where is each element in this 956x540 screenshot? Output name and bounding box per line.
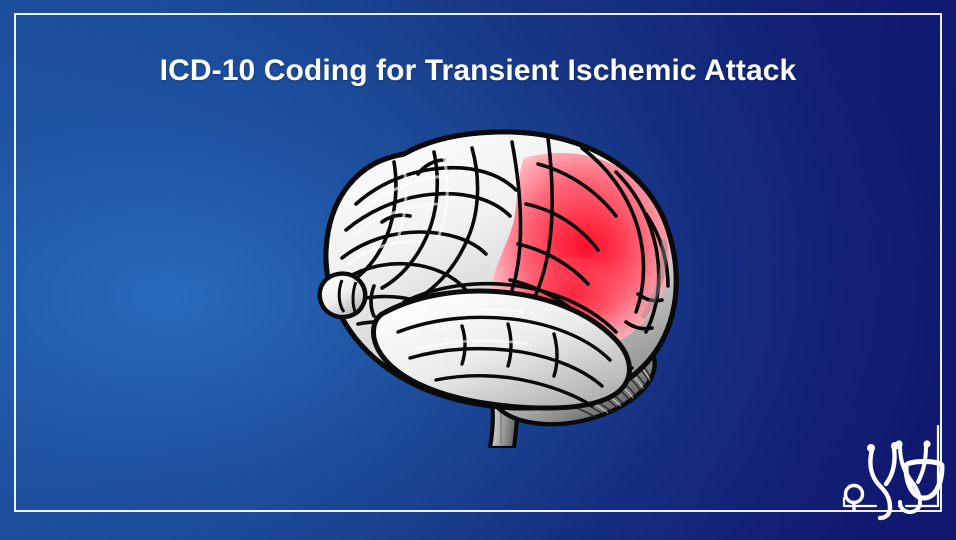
stethoscope-back <box>895 440 930 512</box>
page-title: ICD-10 Coding for Transient Ischemic Att… <box>0 54 956 88</box>
frontal-pole <box>320 274 366 317</box>
brain-lateral-svg <box>286 118 686 448</box>
stethoscope-logo-svg <box>842 424 946 528</box>
brain-illustration <box>286 118 686 448</box>
stethoscope-logo <box>842 424 946 528</box>
slide-canvas: ICD-10 Coding for Transient Ischemic Att… <box>0 0 956 540</box>
